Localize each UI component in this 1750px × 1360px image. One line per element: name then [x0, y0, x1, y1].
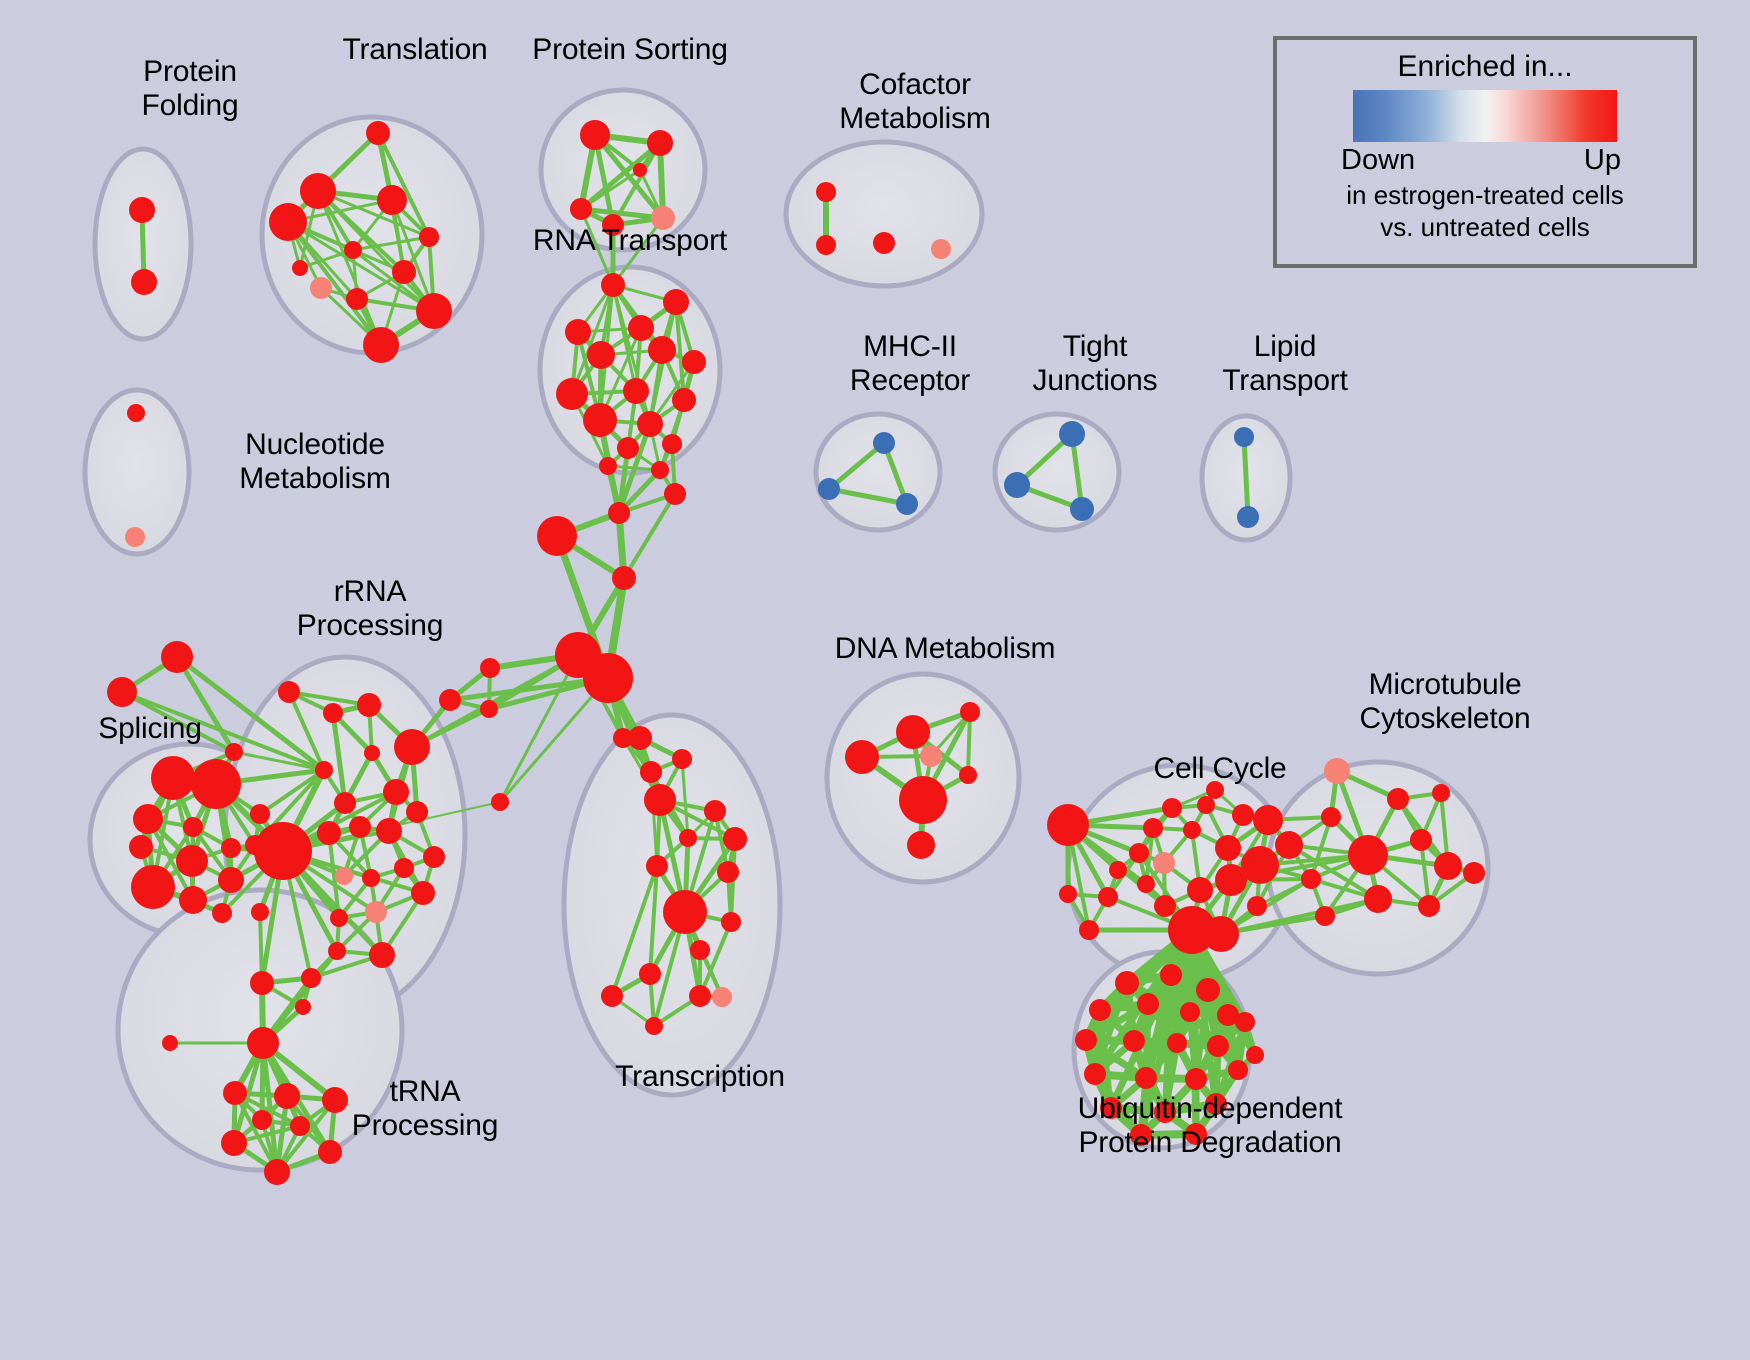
network-node[interactable] [131, 269, 157, 295]
network-node[interactable] [218, 867, 244, 893]
network-node[interactable] [376, 818, 402, 844]
network-node[interactable] [362, 869, 380, 887]
network-node[interactable] [480, 658, 500, 678]
network-node[interactable] [1059, 421, 1085, 447]
network-node[interactable] [651, 461, 669, 479]
network-node[interactable] [717, 861, 739, 883]
network-node[interactable] [334, 792, 356, 814]
cluster-label-splicing: Splicing [55, 712, 245, 746]
network-node[interactable] [315, 761, 333, 779]
cluster-label-protein-folding: Protein Folding [85, 55, 295, 122]
network-node[interactable] [816, 182, 836, 202]
network-node[interactable] [250, 804, 270, 824]
enrichment-network-figure: Protein FoldingTranslationProtein Sortin… [0, 0, 1750, 1360]
network-node[interactable] [640, 761, 662, 783]
cluster-label-cell-cycle: Cell Cycle [1105, 752, 1335, 786]
network-node[interactable] [583, 653, 633, 703]
network-node[interactable] [664, 483, 686, 505]
cluster-label-tight-junctions: Tight Junctions [985, 330, 1205, 397]
network-node[interactable] [845, 740, 879, 774]
network-node[interactable] [663, 289, 689, 315]
cluster-label-lipid-transport: Lipid Transport [1175, 330, 1395, 397]
network-node[interactable] [301, 968, 321, 988]
network-node[interactable] [608, 502, 630, 524]
network-node[interactable] [1075, 1029, 1097, 1051]
network-node[interactable] [1253, 805, 1283, 835]
network-node[interactable] [1203, 916, 1239, 952]
network-node[interactable] [873, 232, 895, 254]
network-node[interactable] [959, 766, 977, 784]
network-node[interactable] [647, 130, 673, 156]
network-node[interactable] [1004, 472, 1030, 498]
network-node[interactable] [690, 940, 710, 960]
network-node[interactable] [1109, 861, 1127, 879]
network-node[interactable] [179, 886, 207, 914]
network-node[interactable] [920, 745, 942, 767]
network-node[interactable] [366, 121, 390, 145]
network-node[interactable] [1348, 835, 1388, 875]
network-node[interactable] [613, 728, 633, 748]
legend-endpoint-labels: Down Up [1335, 144, 1635, 180]
network-node[interactable] [310, 277, 332, 299]
network-node[interactable] [328, 942, 346, 960]
legend-down-label: Down [1341, 144, 1415, 177]
network-node[interactable] [1129, 843, 1149, 863]
network-node[interactable] [818, 478, 840, 500]
cluster-label-rrna-processing: rRNA Processing [255, 575, 485, 642]
network-node[interactable] [1089, 999, 1111, 1021]
network-node[interactable] [565, 319, 591, 345]
network-node[interactable] [599, 457, 617, 475]
network-node[interactable] [1228, 1060, 1248, 1080]
network-node[interactable] [1387, 788, 1409, 810]
network-node[interactable] [1432, 784, 1450, 802]
network-node[interactable] [679, 829, 697, 847]
network-node[interactable] [344, 241, 362, 259]
network-node[interactable] [1237, 506, 1259, 528]
network-node[interactable] [1321, 807, 1341, 827]
network-node[interactable] [127, 404, 145, 422]
cluster-label-cofactor-metabolism: Cofactor Metabolism [795, 68, 1035, 135]
cluster-hull-mhc-ii-receptor [816, 414, 940, 530]
network-node[interactable] [570, 198, 592, 220]
network-node[interactable] [1364, 885, 1392, 913]
network-node[interactable] [960, 702, 980, 722]
network-node[interactable] [645, 1017, 663, 1035]
network-node[interactable] [107, 677, 137, 707]
network-node[interactable] [1153, 852, 1175, 874]
network-node[interactable] [290, 1116, 310, 1136]
network-node[interactable] [1180, 1002, 1200, 1022]
network-node[interactable] [129, 835, 153, 859]
network-node[interactable] [556, 378, 588, 410]
network-node[interactable] [1137, 875, 1155, 893]
network-node[interactable] [628, 315, 654, 341]
network-node[interactable] [247, 1027, 279, 1059]
network-node[interactable] [363, 327, 399, 363]
network-node[interactable] [1079, 920, 1099, 940]
network-node[interactable] [1047, 804, 1089, 846]
network-node[interactable] [1247, 896, 1267, 916]
network-node[interactable] [491, 793, 509, 811]
network-node[interactable] [250, 971, 274, 995]
network-node[interactable] [183, 817, 203, 837]
network-node[interactable] [648, 336, 676, 364]
cluster-hull-cofactor-metabolism [786, 142, 982, 286]
network-node[interactable] [295, 999, 311, 1015]
network-node[interactable] [1234, 427, 1254, 447]
network-node[interactable] [317, 821, 341, 845]
network-node[interactable] [1280, 836, 1298, 854]
network-node[interactable] [896, 715, 930, 749]
network-node[interactable] [623, 378, 649, 404]
network-node[interactable] [1183, 821, 1201, 839]
network-node[interactable] [161, 641, 193, 673]
network-node[interactable] [580, 120, 610, 150]
network-node[interactable] [131, 865, 175, 909]
cluster-label-dna-metabolism: DNA Metabolism [815, 632, 1075, 666]
network-node[interactable] [1246, 1046, 1264, 1064]
network-node[interactable] [292, 260, 308, 276]
legend-box: Enriched in... Down Up in estrogen-treat… [1273, 36, 1697, 268]
network-node[interactable] [633, 163, 647, 177]
cluster-hull-tight-junctions [995, 414, 1119, 530]
network-node[interactable] [1123, 1030, 1145, 1052]
network-node[interactable] [1434, 852, 1462, 880]
network-node[interactable] [1207, 1035, 1229, 1057]
network-node[interactable] [816, 235, 836, 255]
network-node[interactable] [617, 437, 639, 459]
network-node[interactable] [537, 516, 577, 556]
network-node[interactable] [480, 700, 498, 718]
network-node[interactable] [663, 890, 707, 934]
cluster-label-rna-transport: RNA Transport [505, 224, 755, 258]
network-node[interactable] [1154, 895, 1176, 917]
network-node[interactable] [1215, 864, 1247, 896]
network-node[interactable] [1098, 887, 1118, 907]
network-node[interactable] [406, 801, 428, 823]
network-node[interactable] [335, 867, 353, 885]
network-node[interactable] [896, 493, 918, 515]
network-node[interactable] [1135, 1067, 1157, 1089]
network-node[interactable] [364, 745, 380, 761]
network-node[interactable] [212, 903, 232, 923]
network-node[interactable] [639, 963, 661, 985]
network-node[interactable] [873, 432, 895, 454]
network-node[interactable] [1115, 971, 1139, 995]
network-node[interactable] [394, 729, 430, 765]
network-node[interactable] [252, 1110, 272, 1130]
network-node[interactable] [423, 846, 445, 868]
network-node[interactable] [1215, 835, 1241, 861]
network-node[interactable] [1235, 1012, 1255, 1032]
cluster-label-microtubule-cytoskeleton: Microtubule Cytoskeleton [1310, 668, 1580, 735]
network-node[interactable] [1197, 796, 1215, 814]
network-node[interactable] [392, 260, 416, 284]
network-node[interactable] [300, 173, 336, 209]
network-node[interactable] [1070, 497, 1094, 521]
network-node[interactable] [931, 239, 951, 259]
network-node[interactable] [1137, 993, 1159, 1015]
legend-color-gradient-bar [1353, 90, 1617, 142]
network-node[interactable] [646, 855, 668, 877]
network-node[interactable] [125, 527, 145, 547]
network-node[interactable] [349, 816, 371, 838]
network-node[interactable] [662, 434, 682, 454]
network-node[interactable] [323, 703, 343, 723]
network-node[interactable] [1418, 895, 1440, 917]
network-node[interactable] [346, 288, 368, 310]
network-node[interactable] [419, 227, 439, 247]
network-node[interactable] [1410, 829, 1432, 851]
network-node[interactable] [318, 1140, 342, 1164]
network-node[interactable] [899, 776, 947, 824]
network-node[interactable] [1463, 862, 1485, 884]
network-node[interactable] [223, 1081, 247, 1105]
legend-subtitle-line2: vs. untreated cells [1277, 212, 1693, 244]
network-node[interactable] [612, 566, 636, 590]
cluster-label-ubiquitin-protein-degradation: Ubiquitin-dependent Protein Degradation [1000, 1092, 1420, 1159]
legend-up-label: Up [1584, 144, 1621, 177]
network-node[interactable] [365, 901, 387, 923]
network-node[interactable] [151, 756, 195, 800]
network-node[interactable] [682, 350, 706, 374]
network-node[interactable] [644, 784, 676, 816]
network-node[interactable] [251, 903, 269, 921]
network-node[interactable] [672, 388, 696, 412]
network-node[interactable] [601, 985, 623, 1007]
network-node[interactable] [583, 403, 617, 437]
network-node[interactable] [133, 804, 163, 834]
network-node[interactable] [1185, 1068, 1207, 1090]
network-node[interactable] [1232, 804, 1254, 826]
network-node[interactable] [587, 341, 615, 369]
cluster-label-trna-processing: tRNA Processing [310, 1075, 540, 1142]
network-node[interactable] [221, 838, 241, 858]
network-node[interactable] [712, 987, 732, 1007]
network-node[interactable] [274, 1083, 300, 1109]
network-node[interactable] [439, 689, 461, 711]
cluster-label-protein-sorting: Protein Sorting [500, 33, 760, 67]
network-node[interactable] [672, 749, 692, 769]
network-node[interactable] [176, 845, 208, 877]
network-node[interactable] [1162, 798, 1182, 818]
network-node[interactable] [704, 800, 726, 822]
cluster-label-transcription: Transcription [575, 1060, 825, 1094]
network-node[interactable] [162, 1035, 178, 1051]
network-node[interactable] [723, 827, 747, 851]
network-node[interactable] [254, 822, 312, 880]
legend-subtitle-line1: in estrogen-treated cells [1277, 180, 1693, 212]
legend-title: Enriched in... [1277, 50, 1693, 84]
network-node[interactable] [377, 185, 407, 215]
network-node[interactable] [1059, 885, 1077, 903]
network-node[interactable] [416, 293, 452, 329]
network-node[interactable] [264, 1159, 290, 1185]
network-node[interactable] [191, 759, 241, 809]
network-node[interactable] [1196, 978, 1220, 1002]
network-node[interactable] [1143, 818, 1163, 838]
network-node[interactable] [601, 273, 625, 297]
network-node[interactable] [225, 743, 243, 761]
network-node[interactable] [637, 411, 663, 437]
network-node[interactable] [1167, 1033, 1187, 1053]
network-node[interactable] [1187, 877, 1213, 903]
network-node[interactable] [1315, 906, 1335, 926]
network-node[interactable] [411, 881, 435, 905]
network-node[interactable] [383, 779, 409, 805]
network-node[interactable] [221, 1130, 247, 1156]
network-node[interactable] [278, 681, 300, 703]
network-node[interactable] [1160, 964, 1182, 986]
network-node[interactable] [1301, 869, 1321, 889]
network-node[interactable] [269, 203, 307, 241]
network-node[interactable] [394, 858, 414, 878]
network-node[interactable] [721, 912, 741, 932]
network-node[interactable] [1084, 1063, 1106, 1085]
network-node[interactable] [129, 197, 155, 223]
network-node[interactable] [689, 985, 711, 1007]
cluster-label-nucleotide-metabolism: Nucleotide Metabolism [190, 428, 440, 495]
network-node[interactable] [369, 942, 395, 968]
network-node[interactable] [357, 693, 381, 717]
network-node[interactable] [330, 909, 348, 927]
network-node[interactable] [907, 831, 935, 859]
